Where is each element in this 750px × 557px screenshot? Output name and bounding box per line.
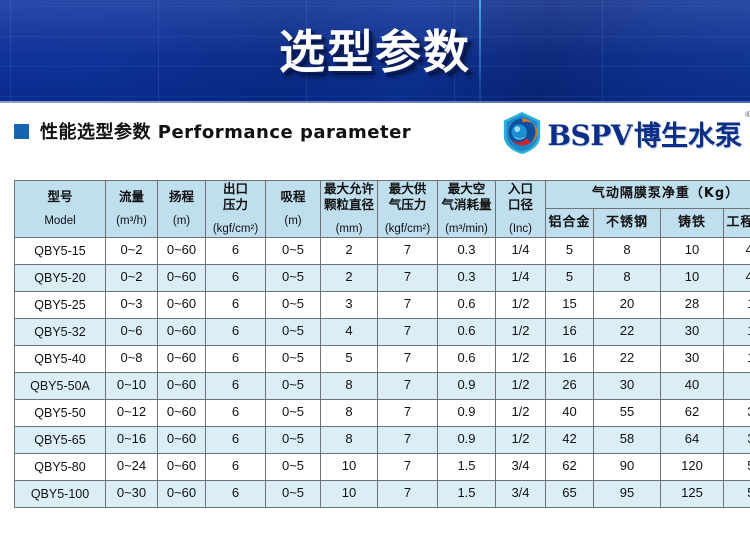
company-logo: BSPV 博生水泵 ® (501, 111, 742, 155)
cell-inlet: 1/2 (496, 345, 546, 372)
cell-particle: 8 (321, 399, 378, 426)
section-header: 性能选型参数 Performance parameter BSPV 博生水泵 ® (0, 103, 750, 163)
cell-air-pressure: 7 (378, 264, 438, 291)
cell-flow: 0~6 (106, 318, 158, 345)
section-title: 性能选型参数 Performance parameter (40, 118, 411, 144)
cell-plastic: 58 (724, 480, 750, 507)
cell-outlet-pressure: 6 (206, 237, 266, 264)
cell-inlet: 1/2 (496, 318, 546, 345)
cell-air-pressure: 7 (378, 399, 438, 426)
cell-cast-iron: 10 (661, 264, 724, 291)
cell-particle: 10 (321, 453, 378, 480)
col-header-model: 型号 Model (15, 181, 106, 238)
cell-particle: 8 (321, 426, 378, 453)
cell-suction: 0~5 (266, 372, 321, 399)
col-header-max-air-consumption: 最大空 气消耗量 (m³/min) (438, 181, 496, 238)
table-row: QBY5-200~20~6060~5270.31/458104.5 (15, 264, 750, 291)
cell-flow: 0~2 (106, 264, 158, 291)
cell-air-consumption: 0.6 (438, 318, 496, 345)
col-header-weight-stainless: 不锈钢 (594, 209, 661, 237)
cell-head: 0~60 (158, 318, 206, 345)
header-row-primary: 型号 Model 流量 (m³/h) 扬程 (m) 出口 压力 (kgf/cm²… (15, 181, 750, 209)
cell-aluminum: 65 (546, 480, 594, 507)
cell-flow: 0~12 (106, 399, 158, 426)
cell-model: QBY5-50 (15, 399, 106, 426)
col-header-outlet-pressure: 出口 压力 (kgf/cm²) (206, 181, 266, 238)
cell-model: QBY5-50A (15, 372, 106, 399)
cell-inlet: 1/2 (496, 426, 546, 453)
cell-air-consumption: 0.6 (438, 291, 496, 318)
cell-air-consumption: 0.3 (438, 264, 496, 291)
page-banner: 选型参数 (0, 0, 750, 103)
cell-aluminum: 62 (546, 453, 594, 480)
cell-head: 0~60 (158, 399, 206, 426)
cell-head: 0~60 (158, 453, 206, 480)
table-row: QBY5-1000~300~6060~51071.53/4659512558 (15, 480, 750, 507)
cell-plastic: 32 (724, 426, 750, 453)
cell-stainless: 30 (594, 372, 661, 399)
cell-inlet: 1/2 (496, 399, 546, 426)
cell-air-consumption: 0.6 (438, 345, 496, 372)
cell-aluminum: 5 (546, 264, 594, 291)
cell-inlet: 1/4 (496, 264, 546, 291)
cell-suction: 0~5 (266, 345, 321, 372)
cell-stainless: 58 (594, 426, 661, 453)
cell-air-pressure: 7 (378, 453, 438, 480)
cell-cast-iron: 125 (661, 480, 724, 507)
cell-stainless: 8 (594, 264, 661, 291)
cell-model: QBY5-40 (15, 345, 106, 372)
cell-flow: 0~24 (106, 453, 158, 480)
cell-aluminum: 26 (546, 372, 594, 399)
cell-suction: 0~5 (266, 399, 321, 426)
bspv-shield-icon (501, 111, 543, 155)
cell-particle: 2 (321, 237, 378, 264)
cell-air-pressure: 7 (378, 426, 438, 453)
cell-aluminum: 16 (546, 318, 594, 345)
cell-flow: 0~3 (106, 291, 158, 318)
cell-cast-iron: 64 (661, 426, 724, 453)
col-header-inlet-diameter: 入口 口径 (Inc) (496, 181, 546, 238)
cell-plastic: / (724, 372, 750, 399)
cell-plastic: 14 (724, 318, 750, 345)
cell-inlet: 1/2 (496, 372, 546, 399)
table-row: QBY5-500~120~6060~5870.91/240556230 (15, 399, 750, 426)
cell-air-pressure: 7 (378, 345, 438, 372)
cell-head: 0~60 (158, 345, 206, 372)
cell-model: QBY5-100 (15, 480, 106, 507)
cell-particle: 4 (321, 318, 378, 345)
table-row: QBY5-650~160~6060~5870.91/242586432 (15, 426, 750, 453)
cell-head: 0~60 (158, 372, 206, 399)
table-row: QBY5-50A0~100~6060~5870.91/2263040/ (15, 372, 750, 399)
cell-particle: 5 (321, 345, 378, 372)
logo-brand-cn: 博生水泵 (634, 114, 742, 153)
cell-inlet: 1/4 (496, 237, 546, 264)
cell-air-consumption: 0.9 (438, 426, 496, 453)
col-header-suction: 吸程 (m) (266, 181, 321, 238)
cell-outlet-pressure: 6 (206, 291, 266, 318)
table-row: QBY5-400~80~6060~5570.61/216223014 (15, 345, 750, 372)
cell-air-consumption: 1.5 (438, 480, 496, 507)
cell-particle: 3 (321, 291, 378, 318)
cell-head: 0~60 (158, 264, 206, 291)
cell-stainless: 90 (594, 453, 661, 480)
cell-particle: 10 (321, 480, 378, 507)
cell-model: QBY5-65 (15, 426, 106, 453)
table-body: QBY5-150~20~6060~5270.31/458104.5QBY5-20… (15, 237, 750, 507)
cell-stainless: 20 (594, 291, 661, 318)
cell-head: 0~60 (158, 480, 206, 507)
cell-model: QBY5-80 (15, 453, 106, 480)
cell-outlet-pressure: 6 (206, 426, 266, 453)
cell-cast-iron: 10 (661, 237, 724, 264)
cell-inlet: 1/2 (496, 291, 546, 318)
table-header: 型号 Model 流量 (m³/h) 扬程 (m) 出口 压力 (kgf/cm²… (15, 181, 750, 238)
cell-stainless: 22 (594, 345, 661, 372)
cell-outlet-pressure: 6 (206, 480, 266, 507)
cell-aluminum: 5 (546, 237, 594, 264)
cell-air-consumption: 1.5 (438, 453, 496, 480)
page-title: 选型参数 (0, 16, 750, 82)
cell-outlet-pressure: 6 (206, 453, 266, 480)
cell-plastic: 14 (724, 345, 750, 372)
cell-outlet-pressure: 6 (206, 345, 266, 372)
cell-stainless: 95 (594, 480, 661, 507)
col-header-head: 扬程 (m) (158, 181, 206, 238)
cell-outlet-pressure: 6 (206, 399, 266, 426)
cell-inlet: 3/4 (496, 453, 546, 480)
performance-parameter-table: 型号 Model 流量 (m³/h) 扬程 (m) 出口 压力 (kgf/cm²… (14, 180, 750, 508)
cell-stainless: 55 (594, 399, 661, 426)
cell-outlet-pressure: 6 (206, 372, 266, 399)
cell-suction: 0~5 (266, 264, 321, 291)
table-row: QBY5-800~240~6060~51071.53/4629012055 (15, 453, 750, 480)
cell-stainless: 22 (594, 318, 661, 345)
cell-suction: 0~5 (266, 318, 321, 345)
cell-air-pressure: 7 (378, 237, 438, 264)
cell-suction: 0~5 (266, 291, 321, 318)
cell-model: QBY5-32 (15, 318, 106, 345)
cell-particle: 8 (321, 372, 378, 399)
cell-cast-iron: 30 (661, 318, 724, 345)
cell-outlet-pressure: 6 (206, 264, 266, 291)
cell-head: 0~60 (158, 426, 206, 453)
cell-model: QBY5-25 (15, 291, 106, 318)
cell-suction: 0~5 (266, 453, 321, 480)
table-row: QBY5-250~30~6060~5370.61/215202813 (15, 291, 750, 318)
cell-model: QBY5-20 (15, 264, 106, 291)
cell-head: 0~60 (158, 291, 206, 318)
cell-flow: 0~16 (106, 426, 158, 453)
cell-air-pressure: 7 (378, 291, 438, 318)
cell-aluminum: 15 (546, 291, 594, 318)
col-header-max-air-pressure: 最大供 气压力 (kgf/cm²) (378, 181, 438, 238)
col-header-net-weight-group: 气动隔膜泵净重（Kg） (546, 181, 750, 209)
col-header-weight-cast-iron: 铸铁 (661, 209, 724, 237)
cell-outlet-pressure: 6 (206, 318, 266, 345)
cell-suction: 0~5 (266, 480, 321, 507)
cell-suction: 0~5 (266, 426, 321, 453)
logo-wordmark: BSPV 博生水泵 ® (547, 114, 742, 153)
cell-cast-iron: 40 (661, 372, 724, 399)
cell-aluminum: 16 (546, 345, 594, 372)
cell-model: QBY5-15 (15, 237, 106, 264)
logo-brand-latin: BSPV (547, 119, 632, 152)
col-header-weight-plastic: 工程塑料 (724, 209, 750, 237)
cell-plastic: 55 (724, 453, 750, 480)
col-header-max-particle: 最大允许 颗粒直径 (mm) (321, 181, 378, 238)
table-row: QBY5-320~60~6060~5470.61/216223014 (15, 318, 750, 345)
cell-air-consumption: 0.9 (438, 372, 496, 399)
col-header-flow: 流量 (m³/h) (106, 181, 158, 238)
section-bullet-icon (14, 124, 29, 139)
cell-air-consumption: 0.3 (438, 237, 496, 264)
cell-flow: 0~10 (106, 372, 158, 399)
cell-flow: 0~2 (106, 237, 158, 264)
cell-flow: 0~30 (106, 480, 158, 507)
cell-particle: 2 (321, 264, 378, 291)
cell-suction: 0~5 (266, 237, 321, 264)
registered-trademark-icon: ® (745, 110, 750, 119)
cell-cast-iron: 120 (661, 453, 724, 480)
cell-plastic: 13 (724, 291, 750, 318)
cell-air-consumption: 0.9 (438, 399, 496, 426)
cell-head: 0~60 (158, 237, 206, 264)
table-row: QBY5-150~20~6060~5270.31/458104.5 (15, 237, 750, 264)
cell-air-pressure: 7 (378, 372, 438, 399)
cell-aluminum: 40 (546, 399, 594, 426)
cell-aluminum: 42 (546, 426, 594, 453)
cell-plastic: 4.5 (724, 264, 750, 291)
cell-inlet: 3/4 (496, 480, 546, 507)
cell-flow: 0~8 (106, 345, 158, 372)
cell-air-pressure: 7 (378, 318, 438, 345)
cell-cast-iron: 28 (661, 291, 724, 318)
col-header-weight-aluminum: 铝合金 (546, 209, 594, 237)
cell-plastic: 30 (724, 399, 750, 426)
cell-cast-iron: 30 (661, 345, 724, 372)
cell-plastic: 4.5 (724, 237, 750, 264)
cell-stainless: 8 (594, 237, 661, 264)
cell-cast-iron: 62 (661, 399, 724, 426)
cell-air-pressure: 7 (378, 480, 438, 507)
